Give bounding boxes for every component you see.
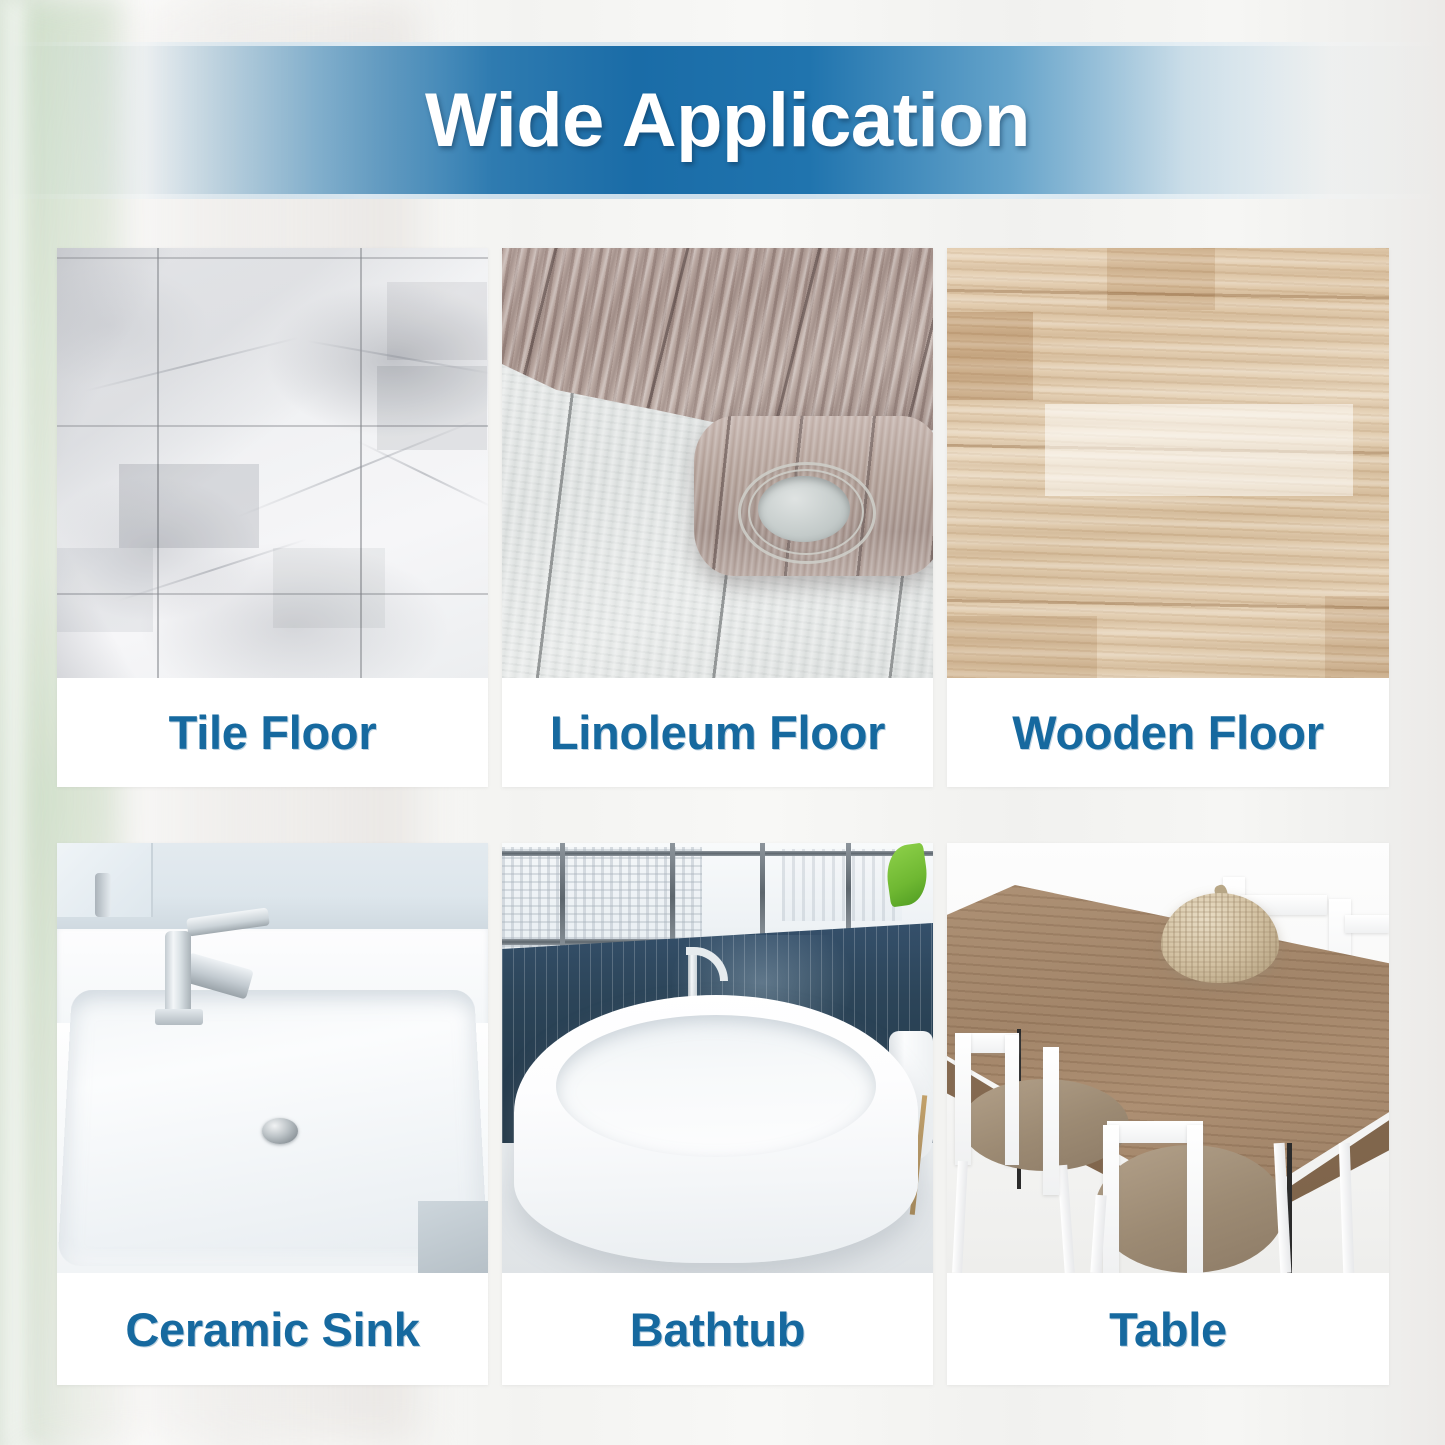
application-card-grid: Tile Floor Linoleum Floor Woo [57, 248, 1390, 1385]
application-card-ceramic-sink: Ceramic Sink [57, 843, 488, 1385]
card-label-linoleum-floor: Linoleum Floor [502, 678, 933, 787]
application-card-wooden-floor: Wooden Floor [947, 248, 1389, 787]
application-card-bathtub: Bathtub [502, 843, 933, 1385]
page-title: Wide Application [0, 83, 1445, 159]
vanity-cabinet [418, 1201, 488, 1273]
tile-floor-photo [57, 248, 488, 678]
bathtub-interior [556, 1015, 876, 1157]
infographic-page: Wide Application Tile Floor [0, 0, 1445, 1445]
application-card-tile-floor: Tile Floor [57, 248, 488, 787]
sink-drain [262, 1118, 298, 1144]
card-label-ceramic-sink: Ceramic Sink [57, 1273, 488, 1385]
faucet-base [155, 1009, 203, 1025]
faucet-reflection [95, 873, 111, 917]
table-photo [947, 843, 1389, 1273]
application-card-table: Table [947, 843, 1389, 1385]
ceramic-sink-photo [57, 843, 488, 1273]
bathtub-photo [502, 843, 933, 1273]
card-label-bathtub: Bathtub [502, 1273, 933, 1385]
card-label-tile-floor: Tile Floor [57, 678, 488, 787]
application-card-linoleum-floor: Linoleum Floor [502, 248, 933, 787]
header-banner: Wide Application [0, 42, 1445, 199]
linoleum-floor-photo [502, 248, 933, 678]
card-label-wooden-floor: Wooden Floor [947, 678, 1389, 787]
city-view-right [782, 849, 902, 921]
card-label-table: Table [947, 1273, 1389, 1385]
bathtub-body [514, 995, 918, 1263]
roll-core [758, 476, 850, 542]
bathroom-mirror [57, 843, 488, 934]
wooden-floor-photo [947, 248, 1389, 678]
